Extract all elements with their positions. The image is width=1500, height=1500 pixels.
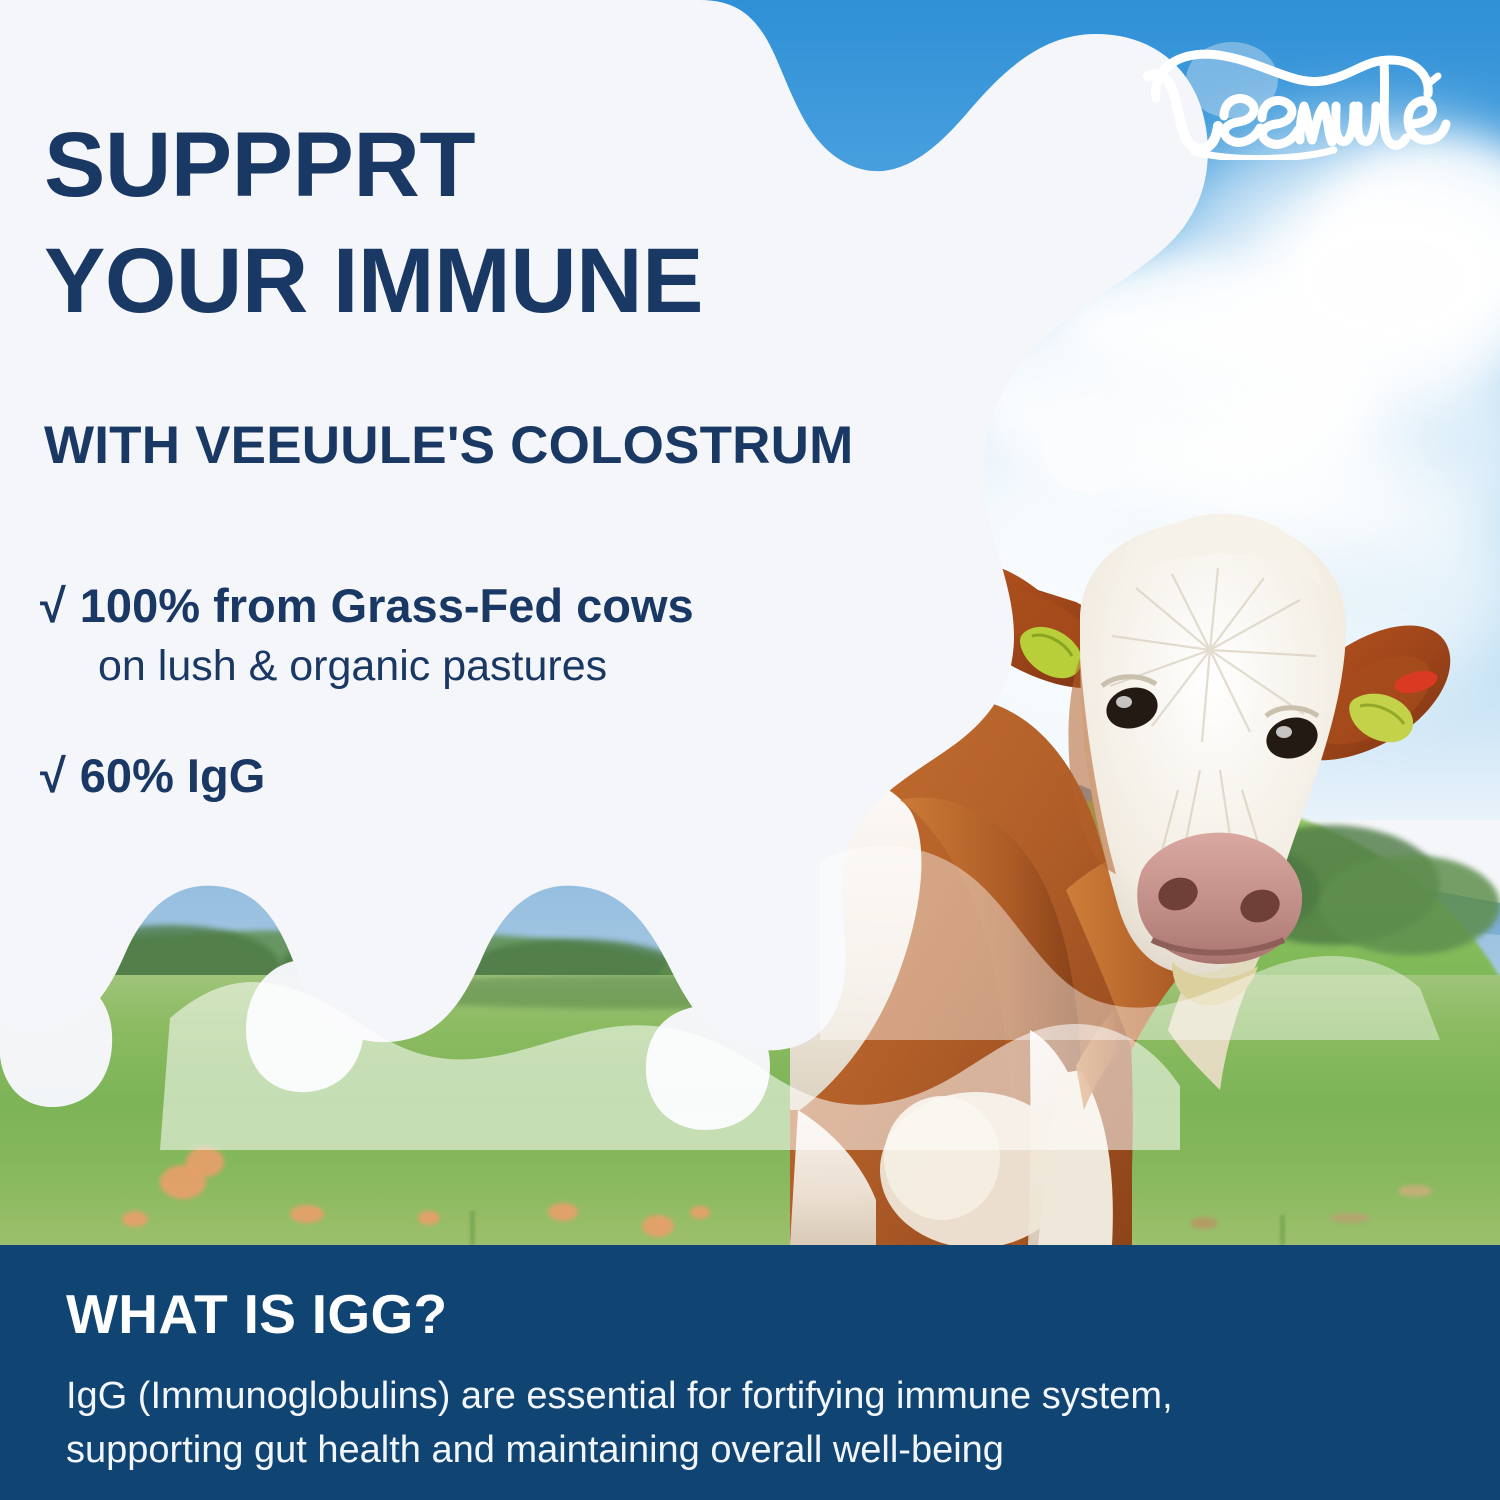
- benefits-list: √100% from Grass-Fed cows on lush & orga…: [40, 580, 920, 833]
- info-panel-body: IgG (Immunoglobulins) are essential for …: [66, 1370, 1446, 1478]
- benefit-main-row: √100% from Grass-Fed cows: [40, 580, 920, 633]
- benefit-label: 100% from Grass-Fed cows: [80, 579, 694, 632]
- product-infographic: Veenuule SUPPPRT YOUR IMMUNE WITH VEEUUL…: [0, 0, 1500, 1500]
- page-title: SUPPPRT YOUR IMMUNE: [44, 108, 944, 340]
- page-subtitle: WITH VEEUULE'S COLOSTRUM: [44, 415, 853, 476]
- check-icon: √: [40, 580, 66, 633]
- list-item: √60% IgG: [40, 750, 920, 803]
- list-item: √100% from Grass-Fed cows on lush & orga…: [40, 580, 920, 692]
- check-icon: √: [40, 750, 66, 803]
- benefit-main-row: √60% IgG: [40, 750, 920, 803]
- benefit-sublabel: on lush & organic pastures: [40, 641, 920, 693]
- info-panel: WHAT IS IgG? IgG (Immunoglobulins) are e…: [0, 1245, 1500, 1500]
- benefit-label: 60% IgG: [80, 749, 265, 802]
- info-panel-title: WHAT IS IgG?: [66, 1282, 447, 1346]
- brand-logo[interactable]: Veenuule: [1128, 40, 1458, 160]
